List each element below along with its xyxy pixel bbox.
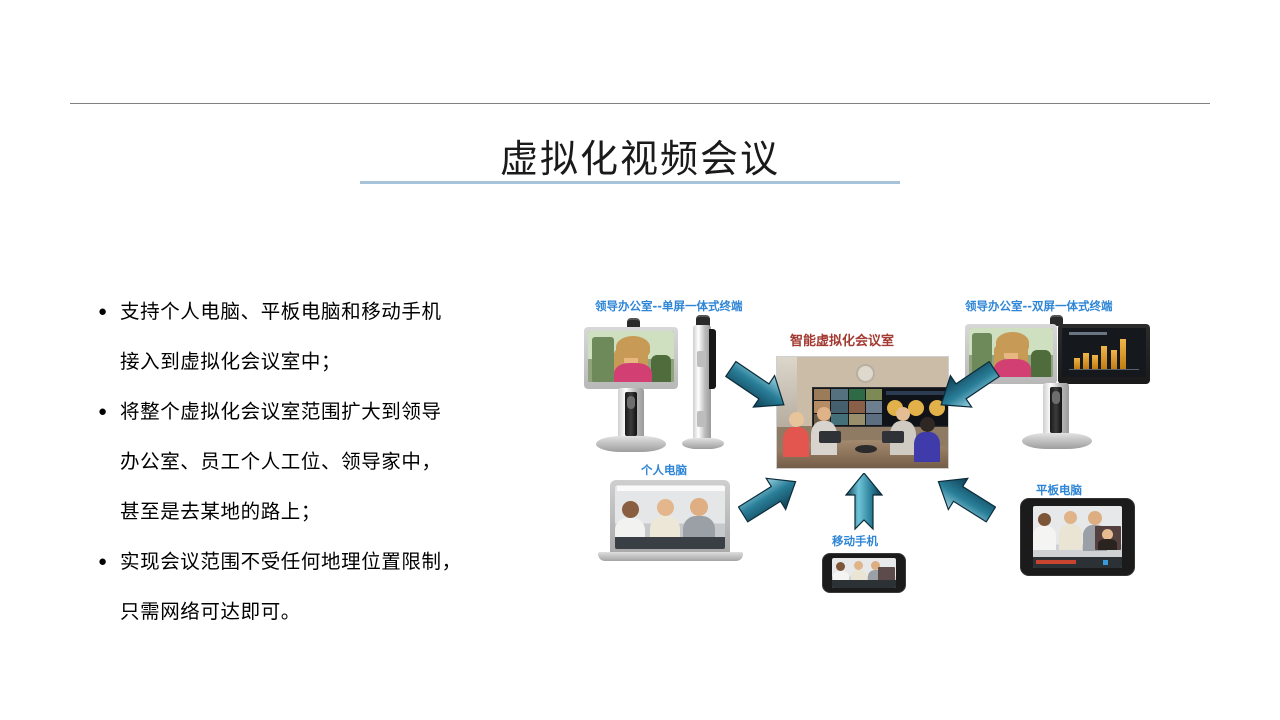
dual-terminal-screen-content-right: [1062, 328, 1146, 377]
presentation-bar-chart: [1062, 328, 1146, 377]
room-laptop: [819, 431, 841, 443]
tablet-video-person: [1038, 513, 1056, 550]
bullet-line: 只需网络可达即可。: [120, 587, 528, 637]
label-left-terminal: 领导办公室--单屏一体式终端: [595, 298, 743, 314]
list-item: ● 实现会议范围不受任何地理位置限制，: [98, 537, 528, 587]
tablet-self-view-pip: [1095, 526, 1121, 550]
device-single-screen-terminal: [580, 318, 690, 453]
video-feed-person: [588, 331, 674, 382]
arrow-left-terminal-to-room: [725, 357, 793, 419]
dual-terminal-sensor-icon: [1052, 391, 1060, 404]
phone-screen-content: [832, 558, 896, 588]
list-item: ● 将整个虚拟化会议室范围扩大到领导: [98, 387, 528, 437]
arrow-tablet-to-room: [930, 467, 996, 527]
label-right-terminal: 领导办公室--双屏一体式终端: [965, 298, 1113, 314]
architecture-diagram: 领导办公室--单屏一体式终端 领导办公室--双屏一体式终端 智能虚拟化会议室 个…: [560, 285, 1180, 605]
bullet-line: 办公室、员工个人工位、领导家中，: [120, 437, 528, 487]
label-laptop: 个人电脑: [641, 462, 687, 478]
terminal-side-vent: [697, 351, 706, 367]
arrow-right-terminal-to-room: [932, 357, 1000, 419]
page-title: 虚拟化视频会议: [0, 128, 1280, 183]
bullet-line: 甚至是去某地的路上；: [120, 487, 528, 537]
terminal-side-base: [682, 438, 724, 449]
label-phone: 移动手机: [832, 533, 878, 549]
tablet-video-person: [1064, 511, 1082, 550]
wall-clock-icon: [856, 364, 875, 383]
label-tablet: 平板电脑: [1036, 482, 1082, 498]
room-laptop: [882, 431, 904, 443]
bullet-line: 实现会议范围不受任何地理位置限制，: [120, 537, 528, 587]
bullet-line: 将整个虚拟化会议室范围扩大到领导: [120, 387, 528, 437]
bullet-list: ● 支持个人电脑、平板电脑和移动手机 接入到虚拟化会议室中； ● 将整个虚拟化会…: [98, 287, 528, 637]
terminal-display: [584, 327, 678, 389]
list-item: ● 支持个人电脑、平板电脑和移动手机: [98, 287, 528, 337]
terminal-screen-content: [588, 331, 674, 382]
speakerphone-icon: [855, 445, 877, 453]
dual-terminal-stand-base: [1022, 433, 1092, 449]
bullet-marker: ●: [98, 537, 120, 587]
dual-terminal-display-right: [1058, 324, 1150, 384]
laptop-screen-content: [615, 485, 725, 549]
bullet-line: 支持个人电脑、平板电脑和移动手机: [120, 287, 528, 337]
bullet-marker: ●: [98, 387, 120, 437]
laptop-video-toolbar: [615, 537, 725, 549]
device-mobile-phone: [822, 553, 906, 593]
tablet-screen-content: [1033, 506, 1122, 568]
phone-video-toolbar[interactable]: [832, 580, 896, 588]
room-person: [920, 417, 940, 462]
slide-root: { "slide": { "title": "虚拟化视频会议", "accent…: [0, 0, 1280, 720]
device-tablet: [1020, 498, 1135, 576]
laptop-lid: [610, 480, 730, 554]
label-center-room: 智能虚拟化会议室: [790, 330, 894, 349]
arrow-phone-to-room: [845, 473, 883, 531]
tablet-video-toolbar[interactable]: [1033, 557, 1122, 568]
terminal-side-display-edge: [709, 329, 716, 389]
image-smart-conference-room: [776, 356, 949, 469]
arrow-laptop-to-room: [738, 467, 804, 527]
device-terminal-side-profile: [680, 315, 726, 455]
terminal-side-vent: [697, 411, 706, 427]
header-divider: [70, 103, 1210, 104]
device-laptop: [598, 480, 743, 568]
laptop-base: [598, 552, 743, 561]
terminal-sensor-icon: [627, 396, 635, 409]
bullet-line: 接入到虚拟化会议室中；: [120, 337, 528, 387]
terminal-stand-base: [596, 436, 666, 452]
bullet-marker: ●: [98, 287, 120, 337]
title-underline-accent: [360, 181, 900, 184]
